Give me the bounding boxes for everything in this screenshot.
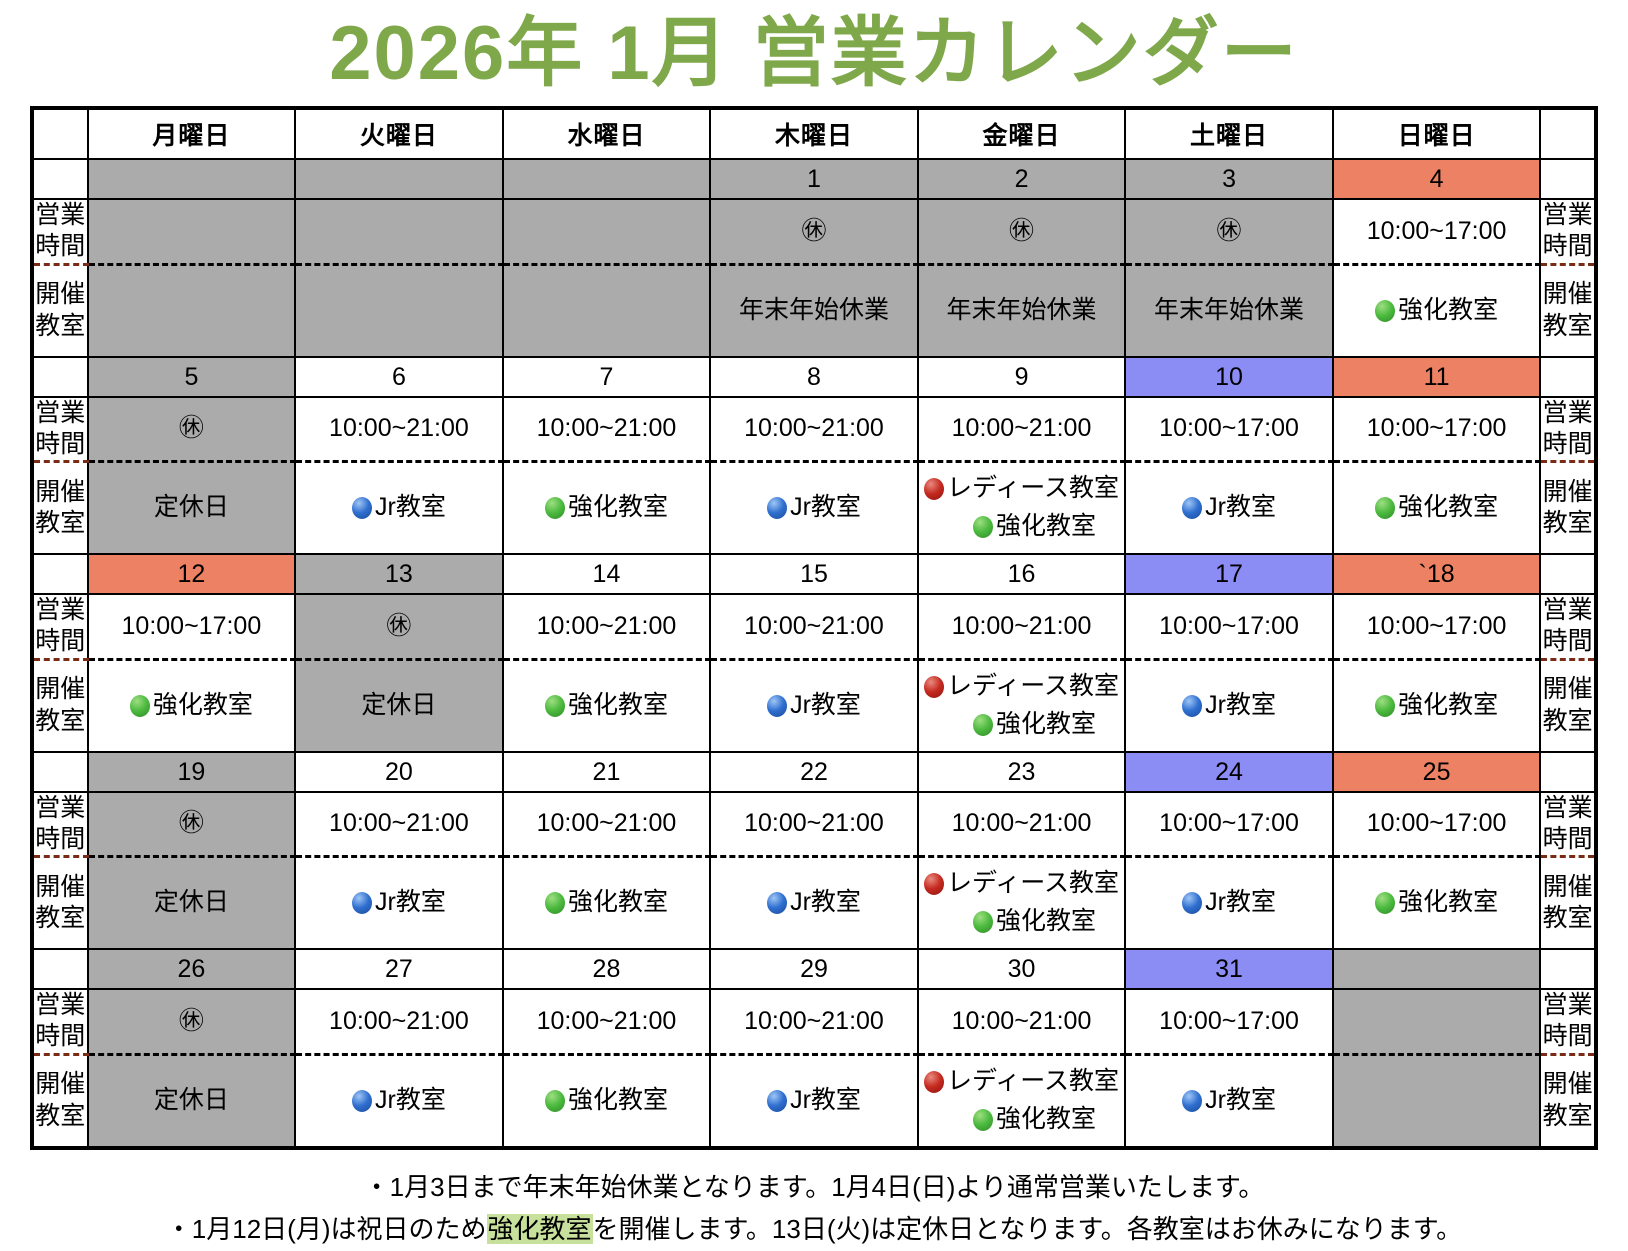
class-entry: 定休日 bbox=[89, 1084, 295, 1118]
class-label: 強化教室 bbox=[996, 907, 1096, 935]
day-number-cell-empty bbox=[1333, 949, 1541, 989]
green-dot-icon bbox=[973, 911, 993, 933]
class-entry: 定休日 bbox=[89, 491, 295, 525]
week-hours-row: 営業時間㊡10:00~21:0010:00~21:0010:00~21:0010… bbox=[32, 989, 1596, 1054]
header-day-tuesday: 火曜日 bbox=[295, 108, 503, 159]
business-hours-cell: 10:00~17:00 bbox=[1333, 792, 1541, 857]
label-classes-left: 開催教室 bbox=[32, 1054, 88, 1148]
label-business-hours-right: 営業時間 bbox=[1540, 397, 1596, 462]
business-hours-cell: 10:00~21:00 bbox=[710, 594, 918, 659]
week-classes-row: 開催教室年末年始休業年末年始休業年末年始休業強化教室開催教室 bbox=[32, 264, 1596, 357]
footer-note: ・1月12日(月)は祝日のため強化教室を開催します。13日(火)は定休日となりま… bbox=[0, 1208, 1628, 1251]
class-entry: 強化教室 bbox=[504, 491, 710, 525]
hours-text: 10:00~17:00 bbox=[1126, 414, 1332, 443]
hours-text: 10:00~17:00 bbox=[89, 612, 295, 641]
hours-text: 10:00~21:00 bbox=[711, 809, 917, 838]
week-classes-row: 開催教室定休日Jr教室強化教室Jr教室レディース教室強化教室Jr教室強化教室開催… bbox=[32, 857, 1596, 950]
classes-cell: レディース教室強化教室 bbox=[918, 1054, 1126, 1148]
business-hours-cell: 10:00~17:00 bbox=[1333, 594, 1541, 659]
business-hours-cell: 10:00~21:00 bbox=[918, 989, 1126, 1054]
label-business-hours-left: 営業時間 bbox=[32, 792, 88, 857]
row-spacer-right bbox=[1540, 357, 1596, 397]
note-text: ・1月12日(月)は祝日のため bbox=[166, 1214, 487, 1244]
day-number-cell-empty bbox=[295, 159, 503, 199]
class-label: レディース教室 bbox=[947, 869, 1119, 897]
closed-icon: ㊡ bbox=[179, 811, 204, 836]
class-label: 強化教室 bbox=[568, 888, 668, 916]
classes-cell: Jr教室 bbox=[710, 857, 918, 950]
green-dot-icon bbox=[545, 497, 565, 519]
business-hours-cell: 10:00~21:00 bbox=[918, 792, 1126, 857]
class-label: Jr教室 bbox=[1205, 888, 1276, 916]
green-dot-icon bbox=[1375, 497, 1395, 519]
hours-text: 10:00~21:00 bbox=[919, 1007, 1125, 1036]
highlighted-text: 強化教室 bbox=[487, 1214, 593, 1244]
class-entry: 強化教室 bbox=[504, 689, 710, 723]
class-entry: 強化教室 bbox=[504, 886, 710, 920]
red-dot-icon bbox=[924, 676, 944, 698]
classes-cell: 強化教室 bbox=[503, 1054, 711, 1148]
class-entry: Jr教室 bbox=[711, 689, 917, 723]
hours-text: 10:00~21:00 bbox=[296, 414, 502, 443]
hours-text: 10:00~17:00 bbox=[1334, 217, 1540, 246]
day-number-cell[interactable]: 4 bbox=[1333, 159, 1541, 199]
day-number-cell[interactable]: 7 bbox=[503, 357, 711, 397]
class-label: 強化教室 bbox=[568, 1086, 668, 1114]
classes-cell: Jr教室 bbox=[1125, 857, 1333, 950]
row-spacer-left bbox=[32, 554, 88, 594]
label-business-hours-right: 営業時間 bbox=[1540, 792, 1596, 857]
class-label: 定休日 bbox=[154, 1086, 229, 1114]
green-dot-icon bbox=[973, 1109, 993, 1131]
day-number-cell-empty bbox=[503, 159, 711, 199]
class-entry: 強化教室 bbox=[919, 1103, 1125, 1137]
green-dot-icon bbox=[545, 1090, 565, 1112]
hours-text: 10:00~17:00 bbox=[1334, 612, 1540, 641]
business-hours-cell: 10:00~17:00 bbox=[88, 594, 296, 659]
day-number-cell[interactable]: 17 bbox=[1125, 554, 1333, 594]
class-label: 強化教室 bbox=[996, 710, 1096, 738]
class-label: 定休日 bbox=[154, 493, 229, 521]
day-number-cell[interactable]: 10 bbox=[1125, 357, 1333, 397]
class-label: 年末年始休業 bbox=[947, 296, 1097, 324]
day-number-cell[interactable]: 12 bbox=[88, 554, 296, 594]
label-classes-right: 開催教室 bbox=[1540, 857, 1596, 950]
business-hours-cell: 10:00~21:00 bbox=[710, 792, 918, 857]
class-label: レディース教室 bbox=[947, 474, 1119, 502]
hours-text: 10:00~21:00 bbox=[504, 612, 710, 641]
class-entry: 強化教室 bbox=[1334, 886, 1540, 920]
class-entry: レディース教室 bbox=[919, 867, 1125, 901]
closed-mark-cell: ㊡ bbox=[295, 594, 503, 659]
label-classes-left: 開催教室 bbox=[32, 264, 88, 357]
green-dot-icon bbox=[130, 695, 150, 717]
green-dot-icon bbox=[1375, 695, 1395, 717]
closed-mark-cell: ㊡ bbox=[88, 989, 296, 1054]
class-label: 強化教室 bbox=[996, 1105, 1096, 1133]
week-classes-row: 開催教室定休日Jr教室強化教室Jr教室レディース教室強化教室Jr教室開催教室 bbox=[32, 1054, 1596, 1148]
header-day-saturday: 土曜日 bbox=[1125, 108, 1333, 159]
day-number-cell[interactable]: 29 bbox=[710, 949, 918, 989]
day-number-cell[interactable]: 16 bbox=[918, 554, 1126, 594]
business-hours-cell: 10:00~21:00 bbox=[503, 792, 711, 857]
class-entry: 定休日 bbox=[296, 689, 502, 723]
label-classes-right: 開催教室 bbox=[1540, 1054, 1596, 1148]
week-hours-row: 営業時間㊡10:00~21:0010:00~21:0010:00~21:0010… bbox=[32, 792, 1596, 857]
class-entry: 強化教室 bbox=[1334, 491, 1540, 525]
week-classes-row: 開催教室強化教室定休日強化教室Jr教室レディース教室強化教室Jr教室強化教室開催… bbox=[32, 659, 1596, 752]
hours-text: 10:00~21:00 bbox=[919, 809, 1125, 838]
day-number-cell[interactable]: 24 bbox=[1125, 752, 1333, 792]
green-dot-icon bbox=[545, 695, 565, 717]
class-entry: Jr教室 bbox=[711, 1084, 917, 1118]
weekday-header-row: 月曜日 火曜日 水曜日 木曜日 金曜日 土曜日 日曜日 bbox=[32, 108, 1596, 159]
day-number-cell[interactable]: 27 bbox=[295, 949, 503, 989]
class-label: 定休日 bbox=[154, 888, 229, 916]
class-label: 強化教室 bbox=[1398, 691, 1498, 719]
calendar-body: 1234営業時間㊡㊡㊡10:00~17:00営業時間開催教室年末年始休業年末年始… bbox=[32, 159, 1596, 1148]
red-dot-icon bbox=[924, 873, 944, 895]
business-hours-cell: 10:00~21:00 bbox=[295, 989, 503, 1054]
note-text: ・1月3日まで年末年始休業となります。1月4日(日)より通常営業いたします。 bbox=[364, 1172, 1265, 1202]
classes-cell: Jr教室 bbox=[1125, 462, 1333, 555]
class-entry: レディース教室 bbox=[919, 472, 1125, 506]
class-label: Jr教室 bbox=[375, 1086, 446, 1114]
week-hours-row: 営業時間10:00~17:00㊡10:00~21:0010:00~21:0010… bbox=[32, 594, 1596, 659]
classes-cell: 年末年始休業 bbox=[918, 264, 1126, 357]
class-label: 定休日 bbox=[361, 691, 436, 719]
day-number-cell[interactable]: 22 bbox=[710, 752, 918, 792]
classes-cell: 強化教室 bbox=[1333, 857, 1541, 950]
note-text: を開催します。13日(火)は定休日となります。各教室はお休みになります。 bbox=[593, 1214, 1463, 1244]
green-dot-icon bbox=[1375, 300, 1395, 322]
classes-cell: Jr教室 bbox=[1125, 659, 1333, 752]
classes-cell: Jr教室 bbox=[710, 659, 918, 752]
blue-dot-icon bbox=[1182, 497, 1202, 519]
green-dot-icon bbox=[973, 714, 993, 736]
class-entry: レディース教室 bbox=[919, 670, 1125, 704]
label-classes-left: 開催教室 bbox=[32, 462, 88, 555]
day-number-cell[interactable]: 5 bbox=[88, 357, 296, 397]
class-entry: Jr教室 bbox=[296, 1084, 502, 1118]
row-spacer-right bbox=[1540, 752, 1596, 792]
label-classes-right: 開催教室 bbox=[1540, 462, 1596, 555]
class-entry: 強化教室 bbox=[89, 689, 295, 723]
hours-text: 10:00~17:00 bbox=[1334, 809, 1540, 838]
row-spacer-left bbox=[32, 949, 88, 989]
business-hours-cell: 10:00~21:00 bbox=[503, 594, 711, 659]
class-label: 強化教室 bbox=[1398, 493, 1498, 521]
class-label: Jr教室 bbox=[790, 493, 861, 521]
closed-icon: ㊡ bbox=[1009, 219, 1034, 244]
blue-dot-icon bbox=[352, 1090, 372, 1112]
business-hours-cell-empty bbox=[295, 199, 503, 264]
day-number-cell[interactable]: 1 bbox=[710, 159, 918, 199]
classes-cell: Jr教室 bbox=[295, 857, 503, 950]
hours-text: 10:00~21:00 bbox=[919, 414, 1125, 443]
header-day-wednesday: 水曜日 bbox=[503, 108, 711, 159]
day-number-cell[interactable]: 13 bbox=[295, 554, 503, 594]
calendar-header: 月曜日 火曜日 水曜日 木曜日 金曜日 土曜日 日曜日 bbox=[32, 108, 1596, 159]
class-label: 強化教室 bbox=[568, 493, 668, 521]
blue-dot-icon bbox=[767, 1090, 787, 1112]
class-label: 年末年始休業 bbox=[739, 296, 889, 324]
closed-mark-cell: ㊡ bbox=[1125, 199, 1333, 264]
label-business-hours-left: 営業時間 bbox=[32, 989, 88, 1054]
hours-text: 10:00~21:00 bbox=[504, 1007, 710, 1036]
header-day-thursday: 木曜日 bbox=[710, 108, 918, 159]
classes-cell-empty bbox=[1333, 1054, 1541, 1148]
business-hours-cell: 10:00~17:00 bbox=[1125, 594, 1333, 659]
blue-dot-icon bbox=[1182, 892, 1202, 914]
row-spacer-right bbox=[1540, 554, 1596, 594]
day-number-cell[interactable]: 2 bbox=[918, 159, 1126, 199]
business-hours-cell: 10:00~17:00 bbox=[1125, 397, 1333, 462]
business-hours-cell: 10:00~17:00 bbox=[1333, 199, 1541, 264]
header-day-sunday: 日曜日 bbox=[1333, 108, 1541, 159]
day-number-cell[interactable]: 25 bbox=[1333, 752, 1541, 792]
week-hours-row: 営業時間㊡㊡㊡10:00~17:00営業時間 bbox=[32, 199, 1596, 264]
business-hours-cell: 10:00~21:00 bbox=[295, 792, 503, 857]
label-business-hours-right: 営業時間 bbox=[1540, 989, 1596, 1054]
label-business-hours-left: 営業時間 bbox=[32, 397, 88, 462]
week-classes-row: 開催教室定休日Jr教室強化教室Jr教室レディース教室強化教室Jr教室強化教室開催… bbox=[32, 462, 1596, 555]
classes-cell: レディース教室強化教室 bbox=[918, 857, 1126, 950]
class-entry: Jr教室 bbox=[1126, 886, 1332, 920]
classes-cell: 定休日 bbox=[88, 1054, 296, 1148]
hours-text: 10:00~21:00 bbox=[504, 809, 710, 838]
week-day-number-row: 121314151617`18 bbox=[32, 554, 1596, 594]
class-label: Jr教室 bbox=[790, 1086, 861, 1114]
closed-mark-cell: ㊡ bbox=[710, 199, 918, 264]
hours-text: 10:00~21:00 bbox=[296, 1007, 502, 1036]
business-hours-cell: 10:00~21:00 bbox=[710, 989, 918, 1054]
business-hours-cell: 10:00~17:00 bbox=[1125, 792, 1333, 857]
class-label: Jr教室 bbox=[1205, 1086, 1276, 1114]
hours-text: 10:00~21:00 bbox=[504, 414, 710, 443]
business-hours-cell: 10:00~17:00 bbox=[1125, 989, 1333, 1054]
closed-mark-cell: ㊡ bbox=[88, 397, 296, 462]
week-day-number-row: 19202122232425 bbox=[32, 752, 1596, 792]
classes-cell: 強化教室 bbox=[503, 857, 711, 950]
closed-icon: ㊡ bbox=[179, 416, 204, 441]
blue-dot-icon bbox=[1182, 695, 1202, 717]
class-entry: Jr教室 bbox=[711, 886, 917, 920]
class-entry: Jr教室 bbox=[296, 886, 502, 920]
row-spacer-right bbox=[1540, 159, 1596, 199]
closed-icon: ㊡ bbox=[801, 219, 826, 244]
business-hours-cell: 10:00~21:00 bbox=[503, 397, 711, 462]
day-number-cell[interactable]: 11 bbox=[1333, 357, 1541, 397]
class-entry: 年末年始休業 bbox=[919, 294, 1125, 328]
classes-cell: 定休日 bbox=[88, 857, 296, 950]
class-entry: 定休日 bbox=[89, 886, 295, 920]
day-number-cell[interactable]: 8 bbox=[710, 357, 918, 397]
label-business-hours-right: 営業時間 bbox=[1540, 199, 1596, 264]
header-day-friday: 金曜日 bbox=[918, 108, 1126, 159]
business-hours-cell: 10:00~21:00 bbox=[918, 594, 1126, 659]
classes-cell: 強化教室 bbox=[1333, 659, 1541, 752]
class-label: Jr教室 bbox=[375, 888, 446, 916]
week-day-number-row: 567891011 bbox=[32, 357, 1596, 397]
row-spacer-left bbox=[32, 357, 88, 397]
day-number-cell[interactable]: 9 bbox=[918, 357, 1126, 397]
footer-note: ・1月3日まで年末年始休業となります。1月4日(日)より通常営業いたします。 bbox=[0, 1166, 1628, 1209]
class-entry: 年末年始休業 bbox=[1126, 294, 1332, 328]
business-hours-cell: 10:00~21:00 bbox=[295, 397, 503, 462]
classes-cell: 強化教室 bbox=[503, 659, 711, 752]
header-right-spacer bbox=[1540, 108, 1596, 159]
class-label: 強化教室 bbox=[996, 512, 1096, 540]
class-entry: Jr教室 bbox=[296, 491, 502, 525]
day-number-cell[interactable]: 28 bbox=[503, 949, 711, 989]
day-number-cell[interactable]: `18 bbox=[1333, 554, 1541, 594]
business-hours-cell-empty bbox=[88, 199, 296, 264]
class-label: レディース教室 bbox=[947, 672, 1119, 700]
closed-mark-cell: ㊡ bbox=[918, 199, 1126, 264]
classes-cell: 強化教室 bbox=[88, 659, 296, 752]
day-number-cell[interactable]: 23 bbox=[918, 752, 1126, 792]
blue-dot-icon bbox=[352, 497, 372, 519]
class-entry: 強化教室 bbox=[919, 905, 1125, 939]
classes-cell: Jr教室 bbox=[295, 1054, 503, 1148]
class-entry: 強化教室 bbox=[919, 510, 1125, 544]
classes-cell: 強化教室 bbox=[1333, 264, 1541, 357]
green-dot-icon bbox=[1375, 892, 1395, 914]
classes-cell: Jr教室 bbox=[710, 462, 918, 555]
business-hours-cell-empty bbox=[1333, 989, 1541, 1054]
day-number-cell[interactable]: 3 bbox=[1125, 159, 1333, 199]
class-entry: Jr教室 bbox=[1126, 491, 1332, 525]
classes-cell: 年末年始休業 bbox=[1125, 264, 1333, 357]
hours-text: 10:00~21:00 bbox=[711, 1007, 917, 1036]
header-day-monday: 月曜日 bbox=[88, 108, 296, 159]
day-number-cell[interactable]: 30 bbox=[918, 949, 1126, 989]
blue-dot-icon bbox=[352, 892, 372, 914]
week-hours-row: 営業時間㊡10:00~21:0010:00~21:0010:00~21:0010… bbox=[32, 397, 1596, 462]
calendar-page: 2026年 1月 営業カレンダー 月曜日 火曜日 水曜日 木曜日 金曜日 土曜日… bbox=[0, 0, 1628, 1168]
day-number-cell[interactable]: 21 bbox=[503, 752, 711, 792]
blue-dot-icon bbox=[1182, 1090, 1202, 1112]
day-number-cell[interactable]: 14 bbox=[503, 554, 711, 594]
row-spacer-right bbox=[1540, 949, 1596, 989]
classes-cell-empty bbox=[503, 264, 711, 357]
row-spacer-left bbox=[32, 752, 88, 792]
class-label: Jr教室 bbox=[1205, 493, 1276, 521]
class-label: 強化教室 bbox=[153, 691, 253, 719]
closed-icon: ㊡ bbox=[179, 1009, 204, 1034]
week-day-number-row: 1234 bbox=[32, 159, 1596, 199]
class-entry: 強化教室 bbox=[919, 708, 1125, 742]
business-hours-cell: 10:00~21:00 bbox=[918, 397, 1126, 462]
day-number-cell[interactable]: 19 bbox=[88, 752, 296, 792]
class-entry: レディース教室 bbox=[919, 1065, 1125, 1099]
hours-text: 10:00~21:00 bbox=[919, 612, 1125, 641]
class-label: 強化教室 bbox=[1398, 888, 1498, 916]
business-calendar-table: 月曜日 火曜日 水曜日 木曜日 金曜日 土曜日 日曜日 1234営業時間㊡㊡㊡1… bbox=[30, 106, 1598, 1150]
day-number-cell[interactable]: 6 bbox=[295, 357, 503, 397]
class-entry: 強化教室 bbox=[1334, 689, 1540, 723]
class-label: Jr教室 bbox=[375, 493, 446, 521]
hours-text: 10:00~21:00 bbox=[711, 414, 917, 443]
day-number-cell-empty bbox=[88, 159, 296, 199]
hours-text: 10:00~17:00 bbox=[1126, 612, 1332, 641]
label-classes-left: 開催教室 bbox=[32, 659, 88, 752]
classes-cell: レディース教室強化教室 bbox=[918, 659, 1126, 752]
class-label: 年末年始休業 bbox=[1154, 296, 1304, 324]
footer-notes: ・1月3日まで年末年始休業となります。1月4日(日)より通常営業いたします。・1… bbox=[0, 1150, 1628, 1251]
label-business-hours-left: 営業時間 bbox=[32, 199, 88, 264]
class-label: 強化教室 bbox=[1398, 296, 1498, 324]
green-dot-icon bbox=[545, 892, 565, 914]
week-day-number-row: 262728293031 bbox=[32, 949, 1596, 989]
label-classes-right: 開催教室 bbox=[1540, 264, 1596, 357]
class-entry: Jr教室 bbox=[1126, 1084, 1332, 1118]
class-entry: Jr教室 bbox=[711, 491, 917, 525]
classes-cell: 定休日 bbox=[88, 462, 296, 555]
hours-text: 10:00~17:00 bbox=[1126, 809, 1332, 838]
classes-cell: 定休日 bbox=[295, 659, 503, 752]
day-number-cell[interactable]: 26 bbox=[88, 949, 296, 989]
classes-cell: Jr教室 bbox=[295, 462, 503, 555]
classes-cell: Jr教室 bbox=[1125, 1054, 1333, 1148]
business-hours-cell: 10:00~21:00 bbox=[710, 397, 918, 462]
day-number-cell[interactable]: 31 bbox=[1125, 949, 1333, 989]
hours-text: 10:00~21:00 bbox=[296, 809, 502, 838]
label-classes-right: 開催教室 bbox=[1540, 659, 1596, 752]
closed-icon: ㊡ bbox=[386, 614, 411, 639]
red-dot-icon bbox=[924, 478, 944, 500]
class-entry: 強化教室 bbox=[504, 1084, 710, 1118]
business-hours-cell: 10:00~17:00 bbox=[1333, 397, 1541, 462]
blue-dot-icon bbox=[767, 497, 787, 519]
blue-dot-icon bbox=[767, 892, 787, 914]
red-dot-icon bbox=[924, 1071, 944, 1093]
header-left-spacer bbox=[32, 108, 88, 159]
closed-mark-cell: ㊡ bbox=[88, 792, 296, 857]
class-label: Jr教室 bbox=[1205, 691, 1276, 719]
blue-dot-icon bbox=[767, 695, 787, 717]
day-number-cell[interactable]: 15 bbox=[710, 554, 918, 594]
calendar-container: 月曜日 火曜日 水曜日 木曜日 金曜日 土曜日 日曜日 1234営業時間㊡㊡㊡1… bbox=[0, 106, 1628, 1150]
class-entry: 年末年始休業 bbox=[711, 294, 917, 328]
class-label: レディース教室 bbox=[947, 1067, 1119, 1095]
classes-cell: 強化教室 bbox=[1333, 462, 1541, 555]
hours-text: 10:00~21:00 bbox=[711, 612, 917, 641]
classes-cell-empty bbox=[295, 264, 503, 357]
label-business-hours-left: 営業時間 bbox=[32, 594, 88, 659]
class-label: 強化教室 bbox=[568, 691, 668, 719]
classes-cell: Jr教室 bbox=[710, 1054, 918, 1148]
hours-text: 10:00~17:00 bbox=[1334, 414, 1540, 443]
business-hours-cell: 10:00~21:00 bbox=[503, 989, 711, 1054]
business-hours-cell-empty bbox=[503, 199, 711, 264]
classes-cell-empty bbox=[88, 264, 296, 357]
class-entry: Jr教室 bbox=[1126, 689, 1332, 723]
classes-cell: レディース教室強化教室 bbox=[918, 462, 1126, 555]
closed-icon: ㊡ bbox=[1217, 219, 1242, 244]
label-classes-left: 開催教室 bbox=[32, 857, 88, 950]
page-title: 2026年 1月 営業カレンダー bbox=[0, 0, 1628, 106]
label-business-hours-right: 営業時間 bbox=[1540, 594, 1596, 659]
classes-cell: 年末年始休業 bbox=[710, 264, 918, 357]
class-entry: 強化教室 bbox=[1334, 294, 1540, 328]
hours-text: 10:00~17:00 bbox=[1126, 1007, 1332, 1036]
row-spacer-left bbox=[32, 159, 88, 199]
day-number-cell[interactable]: 20 bbox=[295, 752, 503, 792]
class-label: Jr教室 bbox=[790, 888, 861, 916]
classes-cell: 強化教室 bbox=[503, 462, 711, 555]
